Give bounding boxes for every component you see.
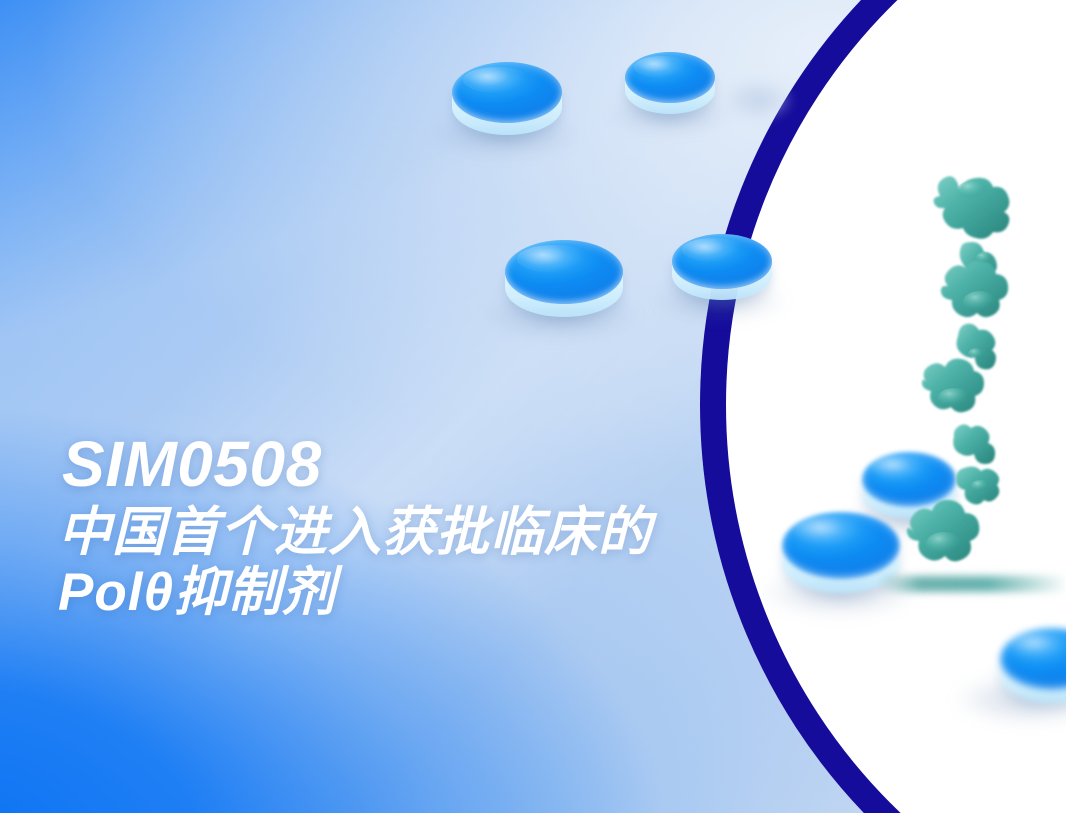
headline-block: SIM0508 中国首个进入获批临床的 Polθ抑制剂 <box>58 432 858 623</box>
tablet-bottom-corner <box>1000 628 1066 708</box>
tablet-gloss <box>1010 633 1066 660</box>
subtitle: 中国首个进入获批临床的 Polθ抑制剂 <box>58 503 858 623</box>
tablet-gloss <box>463 67 531 94</box>
tablet-gloss <box>517 245 590 273</box>
subtitle-line-1: 中国首个进入获批临床的 <box>58 503 858 563</box>
tablet-mid-right <box>672 234 772 304</box>
poster-canvas: SIM0508 中国首个进入获批临床的 Polθ抑制剂 <box>0 0 1066 813</box>
tablet-top-left <box>452 62 562 140</box>
tablet-ghost-top <box>722 80 794 124</box>
tablet-gloss <box>682 238 744 262</box>
product-code-title: SIM0508 <box>62 432 858 497</box>
tablet-gloss <box>871 456 929 480</box>
subtitle-line-2: Polθ抑制剂 <box>58 563 858 623</box>
teal-reflection-streak <box>878 576 1066 592</box>
tablet-top-right <box>625 52 715 118</box>
tablet-mid-left <box>505 240 623 322</box>
